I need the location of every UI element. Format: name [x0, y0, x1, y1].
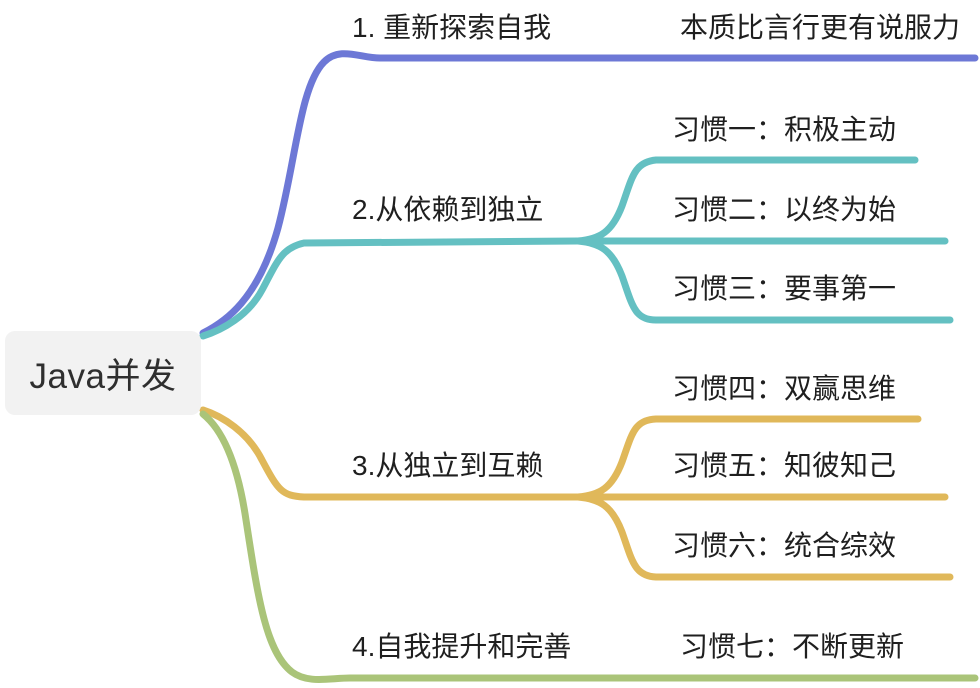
branch-3-child-3-label[interactable]: 习惯六：统合综效 [672, 532, 896, 560]
branch-2-connector [203, 241, 578, 336]
branch-1-child-1-label[interactable]: 本质比言行更有说服力 [680, 14, 960, 42]
branch-2-child-2-label[interactable]: 习惯二：以终为始 [672, 196, 896, 224]
branch-2-label[interactable]: 2.从依赖到独立 [352, 196, 543, 224]
branch-3-label[interactable]: 3.从独立到互赖 [352, 452, 543, 480]
branch-4-label[interactable]: 4.自我提升和完善 [352, 633, 571, 661]
branch-2-child-3-label[interactable]: 习惯三：要事第一 [672, 275, 896, 303]
branch-2-child-1-label[interactable]: 习惯一：积极主动 [672, 116, 896, 144]
branch-3-child-2-label[interactable]: 习惯五：知彼知己 [672, 452, 896, 480]
branch-3-child-1-label[interactable]: 习惯四：双赢思维 [672, 375, 896, 403]
branch-4-child-1-label[interactable]: 习惯七：不断更新 [680, 633, 904, 661]
branch-1-label[interactable]: 1. 重新探索自我 [352, 14, 551, 42]
root-node-label: Java并发 [30, 348, 177, 399]
root-node[interactable]: Java并发 [5, 331, 201, 415]
mindmap-canvas: Java并发 1. 重新探索自我 本质比言行更有说服力 2.从依赖到独立 习惯一… [0, 0, 980, 688]
